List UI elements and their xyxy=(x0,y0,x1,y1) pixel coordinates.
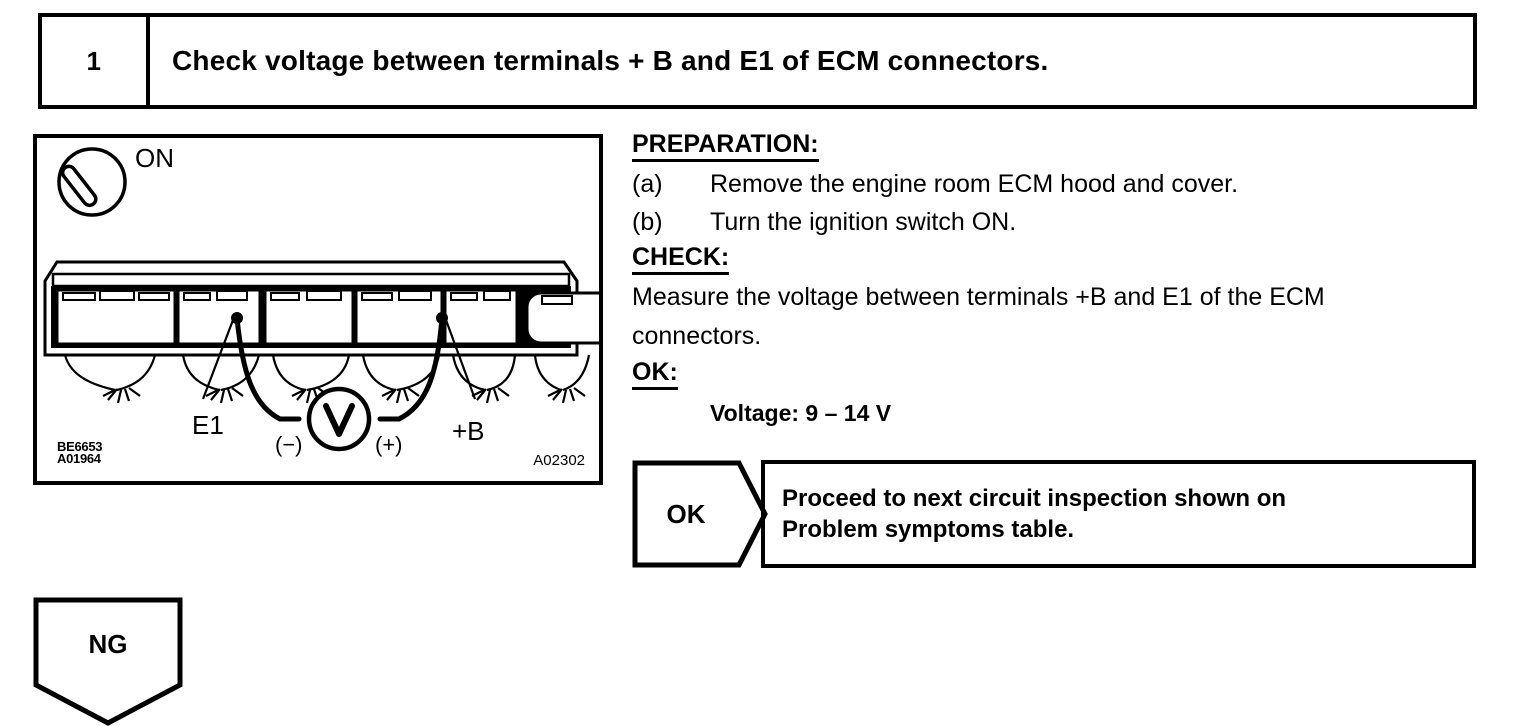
preparation-step-text: Turn the ignition switch ON. xyxy=(710,203,1016,241)
probe-polarity-negative: (−) xyxy=(275,432,303,458)
connector-block xyxy=(265,290,353,344)
connector-block xyxy=(445,290,517,344)
ok-specification-value: Voltage: 9 – 14 V xyxy=(710,393,1488,433)
figure-reference-code-left: BE6653 A01964 xyxy=(57,441,102,465)
preparation-step-marker: (a) xyxy=(632,165,710,203)
step-title: Check voltage between terminals + B and … xyxy=(172,45,1049,77)
ng-arrow-label: NG xyxy=(33,597,183,692)
preparation-heading: PREPARATION: xyxy=(632,130,819,162)
preparation-step-text: Remove the engine room ECM hood and cove… xyxy=(710,165,1238,203)
voltmeter-symbol xyxy=(309,389,369,449)
preparation-step: (b) Turn the ignition switch ON. xyxy=(632,203,1488,241)
ecm-connector-diagram xyxy=(37,138,599,481)
preparation-step-marker: (b) xyxy=(632,203,710,241)
ok-action-line-2: Problem symptoms table. xyxy=(782,514,1472,545)
ignition-switch-icon xyxy=(59,149,125,215)
check-heading: CHECK: xyxy=(632,243,729,275)
ok-heading: OK: xyxy=(632,358,678,390)
connector-block xyxy=(178,290,260,344)
connector-block xyxy=(57,290,175,344)
ignition-state-label: ON xyxy=(135,143,174,174)
step-number-cell: 1 xyxy=(42,17,150,105)
ok-action-box: Proceed to next circuit inspection shown… xyxy=(761,460,1476,568)
figure-reference-code-right: A02302 xyxy=(533,452,585,469)
instruction-text-column: PREPARATION: (a) Remove the engine room … xyxy=(632,130,1488,433)
check-body-line-1: Measure the voltage between terminals +B… xyxy=(632,278,1488,317)
connector-block xyxy=(527,293,599,343)
preparation-heading-row: PREPARATION: xyxy=(632,130,1488,162)
step-number: 1 xyxy=(87,46,102,77)
preparation-step: (a) Remove the engine room ECM hood and … xyxy=(632,165,1488,203)
terminal-label-plus-b: +B xyxy=(452,416,485,447)
figure-panel: ON E1 +B (−) (+) BE6653 A01964 A02302 xyxy=(33,134,603,485)
check-body-line-2: connectors. xyxy=(632,317,1488,356)
figure-code-line2: A01964 xyxy=(57,453,102,465)
step-header-box: 1 Check voltage between terminals + B an… xyxy=(38,13,1477,109)
probe-polarity-positive: (+) xyxy=(375,432,403,458)
ok-heading-row: OK: xyxy=(632,358,1488,390)
ok-result-row: OK Proceed to next circuit inspection sh… xyxy=(632,460,1476,568)
connector-block-group xyxy=(57,290,599,344)
ok-arrow-label: OK xyxy=(632,460,740,568)
step-title-cell: Check voltage between terminals + B and … xyxy=(150,17,1473,105)
connector-block xyxy=(356,290,442,344)
terminal-label-e1: E1 xyxy=(192,410,224,441)
check-heading-row: CHECK: xyxy=(632,243,1488,275)
ok-action-line-1: Proceed to next circuit inspection shown… xyxy=(782,483,1472,514)
